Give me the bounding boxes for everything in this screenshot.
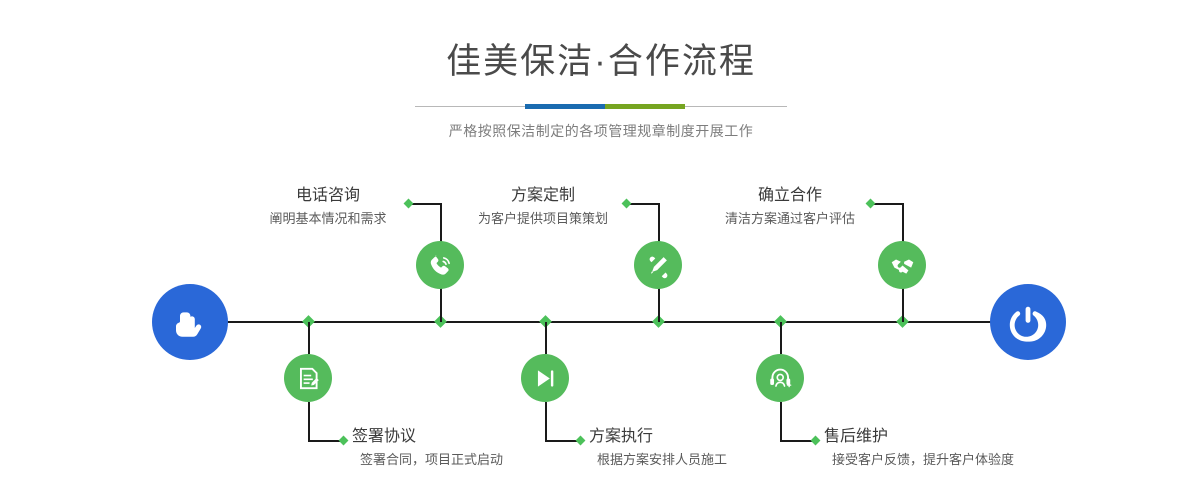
step-desc: 为客户提供项目策策划 xyxy=(462,209,624,229)
step-title: 售后维护 xyxy=(822,427,1072,447)
step-title: 电话咨询 xyxy=(250,186,406,206)
connector-stem-above-3b xyxy=(902,203,904,242)
connector-arm-above-2 xyxy=(627,203,659,205)
step-label-after-sales: 售后维护 接受客户反馈，提升客户体验度 xyxy=(822,427,1072,470)
connector-stem-above-3 xyxy=(902,288,904,322)
connector-stem-above-2 xyxy=(658,288,660,322)
connector-stem-above-1 xyxy=(440,288,442,322)
headset-support-icon xyxy=(767,365,794,392)
connector-arm-below-3 xyxy=(780,440,814,442)
step-node-sign-agreement[interactable] xyxy=(284,354,332,402)
step-desc: 接受客户反馈，提升客户体验度 xyxy=(822,450,1072,470)
step-title: 方案执行 xyxy=(587,427,817,447)
step-label-plan-execution: 方案执行 根据方案安排人员施工 xyxy=(587,427,817,470)
connector-arm-above-3 xyxy=(871,203,903,205)
play-execute-icon xyxy=(532,365,559,392)
connector-stem-below-1b xyxy=(308,402,310,441)
handshake-icon xyxy=(889,252,916,279)
connector-arm-below-2 xyxy=(545,440,579,442)
step-node-plan-execution[interactable] xyxy=(521,354,569,402)
step-desc: 阐明基本情况和需求 xyxy=(250,209,406,229)
step-desc: 签署合同，项目正式启动 xyxy=(350,450,580,470)
step-label-establish-cooperation: 确立合作 清洁方案通过客户评估 xyxy=(706,186,874,229)
step-title: 确立合作 xyxy=(706,186,874,206)
connector-stem-below-2 xyxy=(545,322,547,354)
connector-stem-above-2b xyxy=(658,203,660,242)
timeline-start-endpoint[interactable] xyxy=(152,284,228,360)
step-node-plan-design[interactable] xyxy=(634,241,682,289)
flow-diagram-page: 佳美保洁·合作流程 严格按照保洁制定的各项管理规章制度开展工作 xyxy=(0,0,1202,502)
connector-arm-above-1 xyxy=(409,203,441,205)
connector-stem-below-2b xyxy=(545,402,547,441)
process-timeline: 电话咨询 阐明基本情况和需求 方案定制 为客户提供项目策策划 xyxy=(0,0,1202,502)
connector-stem-below-3b xyxy=(780,402,782,441)
pointing-hand-icon xyxy=(170,302,210,342)
step-node-phone-consult[interactable] xyxy=(416,241,464,289)
timeline-end-endpoint[interactable] xyxy=(990,284,1066,360)
step-desc: 清洁方案通过客户评估 xyxy=(706,209,874,229)
power-icon xyxy=(1008,302,1048,342)
pencil-design-icon xyxy=(645,252,672,279)
step-desc: 根据方案安排人员施工 xyxy=(587,450,817,470)
connector-stem-below-3 xyxy=(780,322,782,354)
document-edit-icon xyxy=(295,365,322,392)
connector-stem-below-1 xyxy=(308,322,310,354)
connector-stem-above-1b xyxy=(440,203,442,242)
step-node-after-sales[interactable] xyxy=(756,354,804,402)
connector-arm-below-1 xyxy=(308,440,342,442)
step-label-phone-consult: 电话咨询 阐明基本情况和需求 xyxy=(250,186,406,229)
phone-call-icon xyxy=(427,252,454,279)
step-title: 方案定制 xyxy=(462,186,624,206)
step-node-establish-cooperation[interactable] xyxy=(878,241,926,289)
label-marker-diamond xyxy=(339,436,349,446)
step-label-plan-design: 方案定制 为客户提供项目策策划 xyxy=(462,186,624,229)
